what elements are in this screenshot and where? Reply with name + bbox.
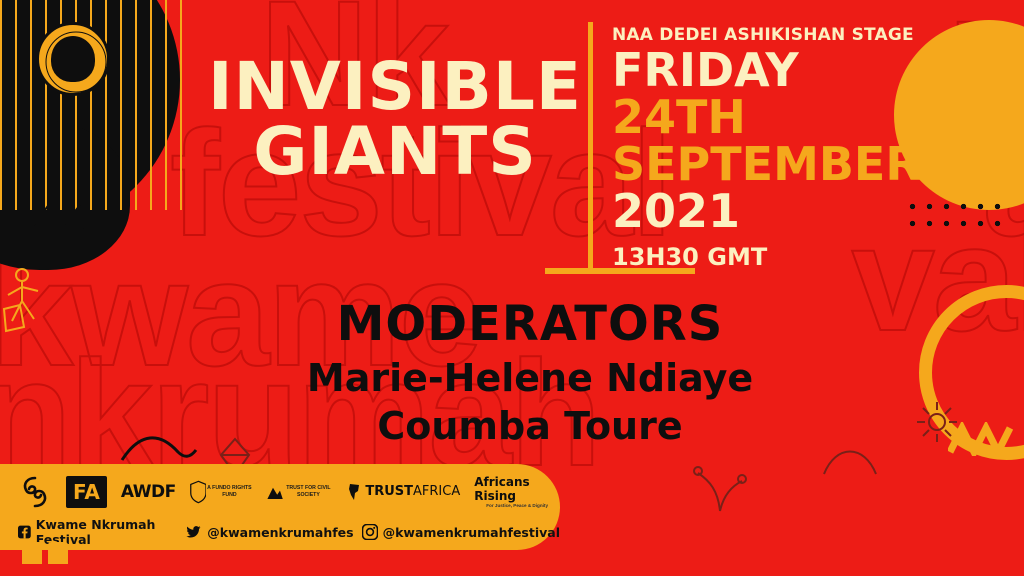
sponsor-trustafrica-bold: TRUST bbox=[365, 484, 413, 499]
doodle-scribble-icon bbox=[30, 195, 90, 235]
sponsor-global-human-rights-fund: A FUNDO RIGHTS FUND bbox=[190, 477, 253, 507]
social-instagram[interactable]: @kwamenkrumahfestival bbox=[362, 524, 560, 540]
sponsor-trustafrica-thin: AFRICA bbox=[413, 484, 460, 499]
facebook-icon bbox=[18, 524, 31, 540]
moderators-block: MODERATORS Marie-Helene Ndiaye Coumba To… bbox=[180, 296, 880, 448]
sponsor-logo-row: FA AWDF A FUNDO RIGHTS FUND TRUST FOR CI… bbox=[0, 464, 560, 510]
sponsor-bar: FA AWDF A FUNDO RIGHTS FUND TRUST FOR CI… bbox=[0, 464, 560, 550]
event-title-line-2: GIANTS bbox=[205, 120, 585, 185]
sponsor-fa: FA bbox=[66, 476, 107, 508]
event-title: INVISIBLE GIANTS bbox=[205, 55, 585, 184]
sponsor-africans-rising-label: Africans Rising bbox=[474, 475, 560, 503]
sponsor-adinkra bbox=[18, 475, 52, 509]
twitter-handle: @kwamenkrumahfes bbox=[207, 525, 353, 540]
event-month: SEPTEMBER bbox=[612, 141, 1012, 188]
moderator-name-2: Coumba Toure bbox=[180, 404, 880, 448]
vertical-divider bbox=[588, 22, 593, 272]
doodle-plant-icon bbox=[690, 455, 750, 515]
sponsor-africans-rising: Africans Rising For Justice, Peace & Dig… bbox=[474, 475, 560, 508]
mountain-icon bbox=[266, 478, 284, 506]
event-title-line-1: INVISIBLE bbox=[205, 55, 585, 120]
doodle-person-icon bbox=[0, 265, 60, 335]
sponsor-awdf-label: AWDF bbox=[121, 482, 176, 502]
sponsor-trust-civil-society: TRUST FOR CIVIL SOCIETY bbox=[266, 478, 332, 506]
instagram-icon bbox=[362, 524, 378, 540]
sponsor-trust-civil-society-label: TRUST FOR CIVIL SOCIETY bbox=[285, 485, 333, 498]
festival-logo bbox=[36, 22, 110, 96]
bottom-red-bar bbox=[0, 564, 1024, 576]
event-year: 2021 bbox=[612, 188, 1012, 235]
adinkra-symbol-icon bbox=[18, 475, 52, 509]
instagram-handle: @kwamenkrumahfestival bbox=[383, 525, 560, 540]
sponsor-trustafrica: TRUSTAFRICA bbox=[346, 483, 460, 501]
shield-icon bbox=[190, 477, 207, 507]
logo-ring-icon bbox=[39, 25, 113, 99]
stage-name: NAA DEDEI ASHIKISHAN STAGE bbox=[612, 25, 1012, 45]
africa-map-icon bbox=[346, 483, 362, 501]
doodle-sun-icon bbox=[915, 400, 959, 444]
event-date-number: 24TH bbox=[612, 94, 1012, 141]
moderators-heading: MODERATORS bbox=[180, 296, 880, 352]
sponsor-africans-rising-tagline: For Justice, Peace & Dignity bbox=[486, 503, 548, 508]
twitter-icon bbox=[186, 524, 202, 540]
event-time: 13H30 GMT bbox=[612, 243, 1012, 271]
social-twitter[interactable]: @kwamenkrumahfes bbox=[186, 524, 353, 540]
sponsor-awdf: AWDF bbox=[121, 482, 176, 502]
event-day: FRIDAY bbox=[612, 47, 1012, 94]
event-date-block: NAA DEDEI ASHIKISHAN STAGE FRIDAY 24TH S… bbox=[612, 25, 1012, 271]
sponsor-trustafrica-label: TRUSTAFRICA bbox=[365, 484, 460, 499]
moderator-name-1: Marie-Helene Ndiaye bbox=[180, 356, 880, 400]
sponsor-global-human-rights-fund-label: A FUNDO RIGHTS FUND bbox=[206, 485, 252, 498]
